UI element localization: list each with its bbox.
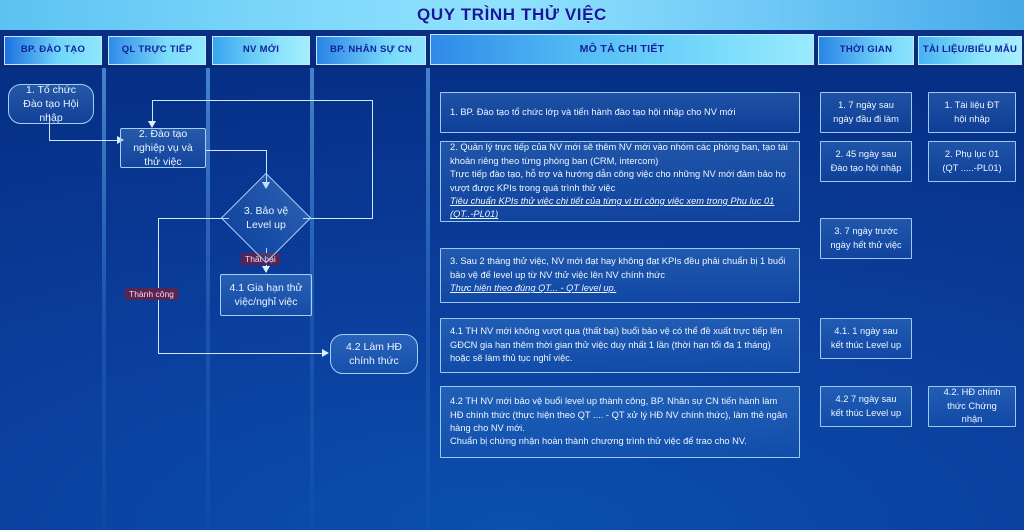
connector-n2-right (205, 150, 267, 151)
description-card-5[interactable]: 4.2 TH NV mới bảo vệ buổi level up thành… (440, 386, 800, 458)
column-header-bp-nhan-su[interactable]: BP. NHÂN SỰ CN (316, 36, 426, 65)
description-line: 4.2 TH NV mới bảo vệ buổi level up thành… (450, 395, 790, 435)
connector-feedback-up (372, 100, 373, 219)
connector-success-right (158, 353, 327, 354)
process-diagram-page: QUY TRÌNH THỬ VIỆC BP. ĐÀO TẠO QL TRỰC T… (0, 0, 1024, 530)
timing-card-4[interactable]: 4.1. 1 ngày sau kết thúc Level up (820, 318, 912, 359)
lane-divider-1 (102, 68, 106, 530)
lane-divider-2 (206, 68, 210, 530)
description-line: 1. BP. Đào tạo tổ chức lớp và tiến hành … (450, 106, 790, 119)
column-header-thoi-gian[interactable]: THỜI GIAN (818, 36, 914, 65)
timing-card-5[interactable]: 4.2 7 ngày sau kết thúc Level up (820, 386, 912, 427)
arrowhead-into-n42 (322, 349, 329, 357)
connector-diamond-right (303, 218, 373, 219)
document-card-2[interactable]: 2. Phụ lục 01 (QT .....-PL01) (928, 141, 1016, 182)
description-card-1[interactable]: 1. BP. Đào tạo tổ chức lớp và tiến hành … (440, 92, 800, 133)
flow-node-bao-ve-level-up-label: 3. Bảo vệ Level up (230, 200, 302, 236)
flow-node-dao-tao-nghiep-vu[interactable]: 2. Đào tạo nghiệp vụ và thử việc (120, 128, 206, 168)
flow-node-gia-han-thu-viec[interactable]: 4.1 Gia hạn thử việc/nghỉ việc (220, 274, 312, 316)
connector-n1-right (49, 140, 121, 141)
description-line: Trực tiếp đào tạo, hỗ trợ và hướng dẫn c… (450, 168, 790, 195)
timing-card-3[interactable]: 3. 7 ngày trước ngày hết thử việc (820, 218, 912, 259)
connector-diamond-left (158, 218, 229, 219)
column-header-tai-lieu[interactable]: TÀI LIỆU/BIỂU MẪU (918, 36, 1022, 65)
page-title: QUY TRÌNH THỬ VIỆC (0, 0, 1024, 30)
connector-feedback-left (152, 100, 373, 101)
lane-divider-4 (426, 68, 430, 530)
flow-node-to-chuc-dao-tao[interactable]: 1. Tổ chức Đào tạo Hội nhập (8, 84, 94, 124)
description-line: 4.1 TH NV mới không vượt qua (thất bại) … (450, 325, 790, 365)
description-card-3[interactable]: 3. Sau 2 tháng thử việc, NV mới đạt hay … (440, 248, 800, 303)
description-line: 2. Quản lý trực tiếp của NV mới sẽ thêm … (450, 141, 790, 168)
arrowhead-into-n41 (262, 266, 270, 273)
description-line-reference[interactable]: Tiêu chuẩn KPIs thử việc chi tiết của từ… (450, 195, 790, 222)
description-card-4[interactable]: 4.1 TH NV mới không vượt qua (thất bại) … (440, 318, 800, 373)
description-line: Chuẩn bị chứng nhận hoàn thành chương tr… (450, 435, 790, 448)
connector-success-down (158, 218, 159, 353)
column-header-ql-truc-tiep[interactable]: QL TRỰC TIẾP (108, 36, 206, 65)
timing-card-1[interactable]: 1. 7 ngày sau ngày đầu đi làm (820, 92, 912, 133)
column-header-bp-dao-tao[interactable]: BP. ĐÀO TẠO (4, 36, 102, 65)
description-card-2[interactable]: 2. Quản lý trực tiếp của NV mới sẽ thêm … (440, 141, 800, 222)
column-header-nv-moi[interactable]: NV MỚI (212, 36, 310, 65)
document-card-3[interactable]: 4.2. HĐ chính thức Chứng nhận (928, 386, 1016, 427)
column-header-mo-ta-chi-tiet[interactable]: MÔ TẢ CHI TIẾT (430, 34, 814, 65)
description-line-reference[interactable]: Thực hiện theo đúng QT... - QT level up. (450, 282, 790, 295)
flow-node-lam-hd-chinh-thuc[interactable]: 4.2 Làm HĐ chính thức (330, 334, 418, 374)
edge-label-thanh-cong: Thành công (125, 288, 178, 300)
document-card-1[interactable]: 1. Tài liệu ĐT hội nhập (928, 92, 1016, 133)
description-line: 3. Sau 2 tháng thử việc, NV mới đạt hay … (450, 255, 790, 282)
timing-card-2[interactable]: 2. 45 ngày sau Đào tạo hội nhập (820, 141, 912, 182)
